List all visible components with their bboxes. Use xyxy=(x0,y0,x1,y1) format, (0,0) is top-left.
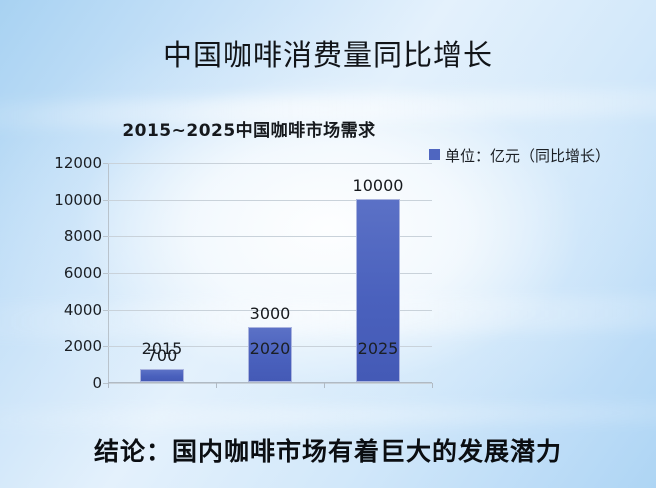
gridline xyxy=(108,163,432,164)
y-axis-tick-label: 12000 xyxy=(32,154,102,172)
y-axis-tick xyxy=(103,200,108,201)
x-axis-category-label: 2025 xyxy=(323,339,433,358)
slide-title: 中国咖啡消费量同比增长 xyxy=(0,36,656,74)
legend-item: 单位：亿元（同比增长） xyxy=(429,144,625,168)
x-axis-tick xyxy=(216,383,217,388)
chart-title: 2015~2025中国咖啡市场需求 xyxy=(14,116,484,141)
bar-value-label: 10000 xyxy=(323,176,433,195)
x-axis-category-label: 2020 xyxy=(215,339,325,358)
y-axis-tick-label: 2000 xyxy=(32,337,102,355)
bar-value-label: 3000 xyxy=(215,304,325,323)
x-axis-tick xyxy=(324,383,325,388)
conclusion-text: 结论：国内咖啡市场有着巨大的发展潜力 xyxy=(0,432,656,468)
chart-legend: 单位：亿元（同比增长） xyxy=(429,144,625,168)
slide-canvas: 中国咖啡消费量同比增长 2015~2025中国咖啡市场需求 1200010000… xyxy=(0,0,656,488)
gridline xyxy=(108,383,432,384)
y-axis-tick-label: 0 xyxy=(32,374,102,392)
x-axis-tick xyxy=(432,383,433,388)
y-axis-tick-label: 10000 xyxy=(32,191,102,209)
legend-item-label: 单位：亿元（同比增长） xyxy=(445,144,610,168)
y-axis-tick-label: 6000 xyxy=(32,264,102,282)
y-axis-tick xyxy=(103,310,108,311)
y-axis-tick xyxy=(103,163,108,164)
y-axis-tick xyxy=(103,236,108,237)
y-axis-tick-label: 4000 xyxy=(32,301,102,319)
x-axis-tick xyxy=(108,383,109,388)
legend-color-swatch-icon xyxy=(429,149,440,160)
y-axis-labels: 120001000080006000400020000 xyxy=(30,163,102,383)
x-axis-category-label: 2015 xyxy=(107,339,217,358)
y-axis-tick xyxy=(103,273,108,274)
y-axis-tick-label: 8000 xyxy=(32,227,102,245)
bar[interactable] xyxy=(140,369,184,382)
